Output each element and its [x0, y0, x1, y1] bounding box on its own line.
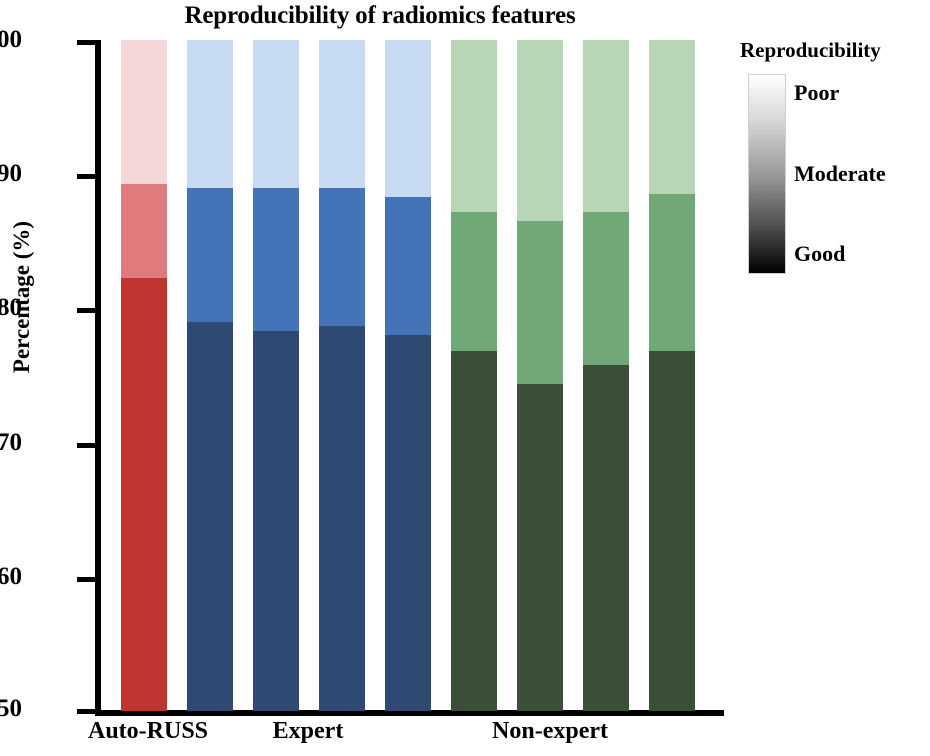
x-group-label-auto-russ: Auto-RUSS: [88, 718, 200, 745]
bar-expert-1: [187, 40, 233, 711]
bar-segment-moderate: [517, 221, 563, 383]
bar-segment-poor: [649, 40, 695, 194]
bar-segment-moderate: [319, 188, 365, 326]
bar-segment-moderate: [583, 212, 629, 365]
bar-segment-good: [187, 322, 233, 711]
y-tick-label-90: 90: [0, 161, 22, 186]
bar-segment-moderate: [253, 188, 299, 332]
bar-segment-good: [451, 351, 497, 711]
y-tick-label-100: 100: [0, 27, 22, 52]
bar-non-expert-4: [649, 40, 695, 711]
bar-auto-russ: [121, 40, 167, 711]
bar-segment-good: [649, 351, 695, 711]
legend-label-moderate: Moderate: [794, 163, 886, 185]
bar-expert-4: [385, 40, 431, 711]
bar-expert-2: [253, 40, 299, 711]
x-group-label-expert: Expert: [228, 718, 388, 745]
y-tick-70: [77, 443, 96, 448]
y-tick-100: [77, 40, 96, 45]
y-tick-60: [77, 577, 96, 582]
legend: Reproducibility Poor Moderate Good: [740, 30, 930, 310]
bar-segment-moderate: [649, 194, 695, 351]
legend-gradient-bar: [748, 74, 786, 274]
y-tick-label-80: 80: [0, 295, 22, 320]
bar-segment-poor: [253, 40, 299, 188]
bar-segment-moderate: [121, 184, 167, 278]
bar-segment-poor: [385, 40, 431, 197]
bar-non-expert-3: [583, 40, 629, 711]
y-tick-50: [77, 709, 96, 714]
legend-label-poor: Poor: [794, 82, 839, 104]
bar-segment-good: [385, 335, 431, 711]
legend-label-good: Good: [794, 243, 845, 265]
bar-non-expert-1: [451, 40, 497, 711]
y-tick-80: [77, 308, 96, 313]
bar-segment-poor: [187, 40, 233, 188]
bar-non-expert-2: [517, 40, 563, 711]
x-group-label-non-expert: Non-expert: [440, 718, 660, 745]
bar-segment-good: [319, 326, 365, 711]
y-tick-label-50: 50: [0, 696, 22, 721]
y-tick-label-60: 60: [0, 564, 22, 589]
bar-segment-good: [517, 384, 563, 711]
bar-segment-moderate: [385, 197, 431, 335]
bar-segment-poor: [319, 40, 365, 188]
bar-segment-moderate: [451, 212, 497, 352]
bar-segment-poor: [121, 40, 167, 184]
plot-area: 100 90 80 70 60 50 Auto-RUSS Expert Non-…: [0, 0, 760, 756]
y-tick-90: [77, 174, 96, 179]
bar-segment-good: [253, 331, 299, 711]
y-tick-label-70: 70: [0, 430, 22, 455]
bar-segment-poor: [583, 40, 629, 212]
y-axis-line: [95, 40, 101, 716]
bar-segment-good: [121, 278, 167, 711]
legend-title: Reproducibility: [740, 40, 930, 61]
bar-segment-poor: [517, 40, 563, 221]
bar-segment-poor: [451, 40, 497, 212]
bar-segment-good: [583, 365, 629, 711]
bar-segment-moderate: [187, 188, 233, 322]
bar-expert-3: [319, 40, 365, 711]
